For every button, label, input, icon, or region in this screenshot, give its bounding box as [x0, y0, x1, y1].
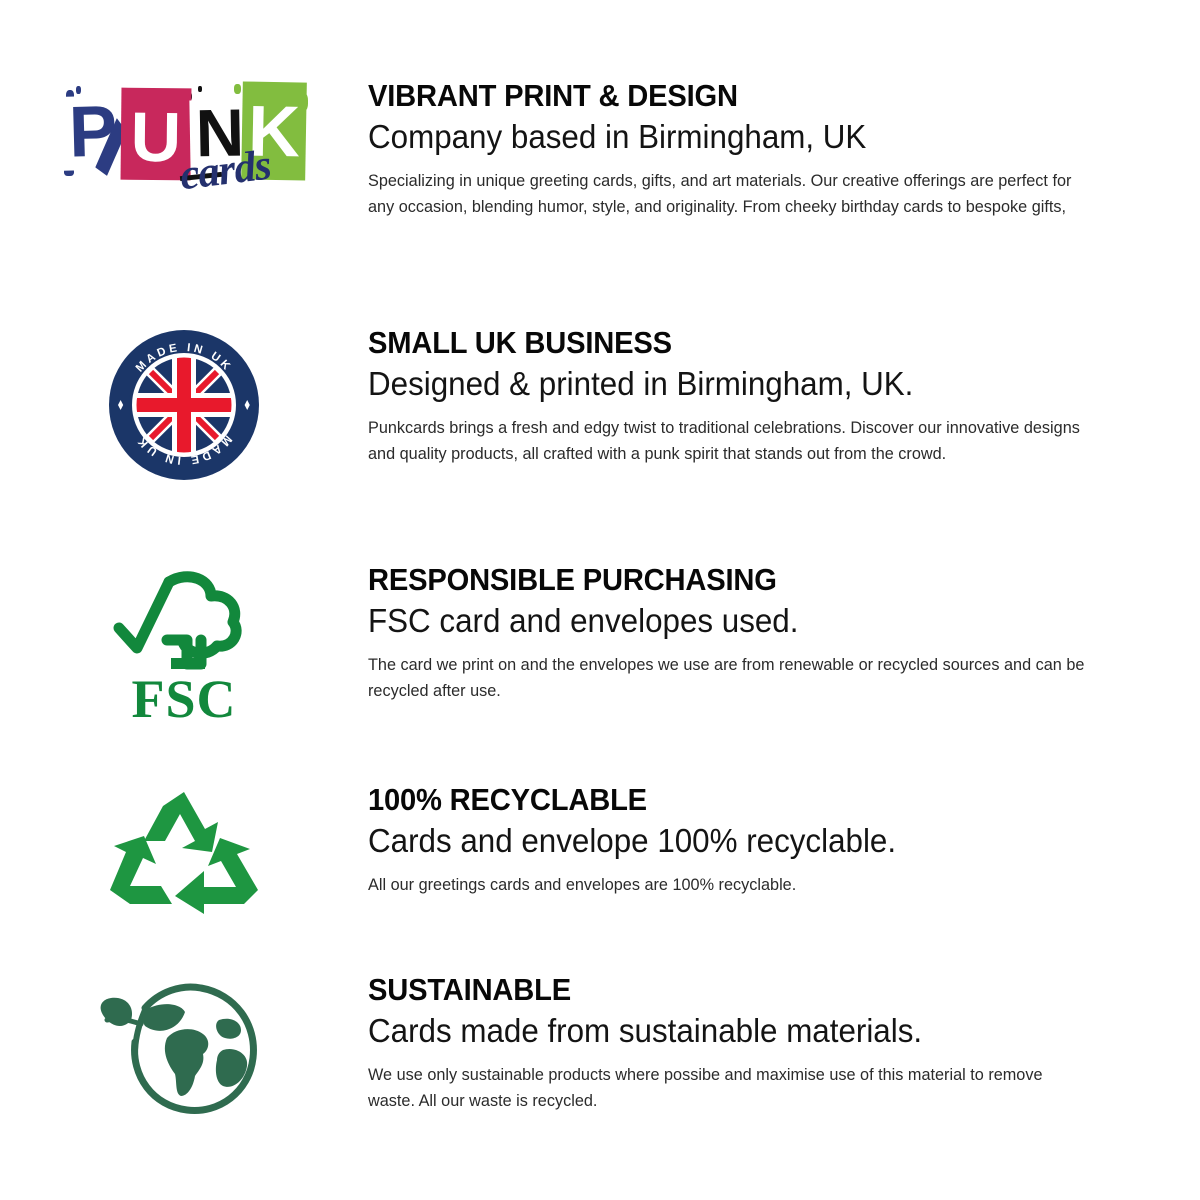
icon-cell-made-in-uk: MADE IN UK MADE IN UK — [0, 325, 368, 481]
text-cell-sustainable: SUSTAINABLE Cards made from sustainable … — [368, 972, 1200, 1114]
feature-body: All our greetings cards and envelopes ar… — [368, 872, 1087, 898]
feature-headline: SMALL UK BUSINESS — [368, 325, 1060, 361]
globe-leaf-icon — [89, 976, 279, 1116]
text-cell-vibrant-print-design: VIBRANT PRINT & DESIGN Company based in … — [368, 78, 1200, 220]
feature-row-responsible-purchasing: FSC RESPONSIBLE PURCHASING FSC card and … — [0, 562, 1200, 726]
made-in-uk-badge-icon: MADE IN UK MADE IN UK — [108, 329, 260, 481]
feature-subheadline: Cards and envelope 100% recyclable. — [368, 820, 1067, 862]
feature-row-small-uk-business: MADE IN UK MADE IN UK SMALL UK BUSINESS … — [0, 325, 1200, 481]
feature-body: The card we print on and the envelopes w… — [368, 652, 1087, 704]
feature-headline: 100% RECYCLABLE — [368, 782, 1060, 818]
feature-subheadline: Company based in Birmingham, UK — [368, 116, 1067, 158]
text-cell-100-percent-recyclable: 100% RECYCLABLE Cards and envelope 100% … — [368, 782, 1200, 898]
made-in-uk-badge-svg: MADE IN UK MADE IN UK — [108, 329, 260, 481]
punkcards-logo: P U N K cards — [62, 82, 307, 202]
globe-leaf-svg — [89, 976, 279, 1116]
icon-cell-punkcards: P U N K cards — [0, 78, 368, 202]
feature-headline: VIBRANT PRINT & DESIGN — [368, 78, 1060, 114]
feature-body: We use only sustainable products where p… — [368, 1062, 1087, 1114]
feature-row-100-percent-recyclable: 100% RECYCLABLE Cards and envelope 100% … — [0, 782, 1200, 914]
feature-headline: SUSTAINABLE — [368, 972, 1060, 1008]
feature-headline: RESPONSIBLE PURCHASING — [368, 562, 1060, 598]
icon-cell-globe — [0, 972, 368, 1116]
fsc-tree-icon: FSC — [111, 566, 257, 726]
text-cell-responsible-purchasing: RESPONSIBLE PURCHASING FSC card and enve… — [368, 562, 1200, 704]
logo-speck — [234, 84, 241, 94]
fsc-tree-svg — [111, 566, 257, 686]
feature-body: Punkcards brings a fresh and edgy twist … — [368, 415, 1087, 467]
icon-cell-fsc: FSC — [0, 562, 368, 726]
fsc-label: FSC — [111, 672, 257, 726]
feature-row-vibrant-print-design: P U N K cards VIBRANT PRINT & DESIGN Com… — [0, 78, 1200, 220]
logo-script-cards: cards — [177, 141, 273, 201]
text-cell-small-uk-business: SMALL UK BUSINESS Designed & printed in … — [368, 325, 1200, 467]
recycle-svg — [104, 786, 264, 914]
feature-subheadline: FSC card and envelopes used. — [368, 600, 1067, 642]
recycle-icon — [104, 786, 264, 914]
feature-body: Specializing in unique greeting cards, g… — [368, 168, 1087, 220]
feature-list-page: P U N K cards VIBRANT PRINT & DESIGN Com… — [0, 0, 1200, 1200]
feature-subheadline: Cards made from sustainable materials. — [368, 1010, 1067, 1052]
feature-subheadline: Designed & printed in Birmingham, UK. — [368, 363, 1067, 405]
icon-cell-recycle — [0, 782, 368, 914]
logo-speck — [198, 86, 202, 92]
feature-row-sustainable: SUSTAINABLE Cards made from sustainable … — [0, 972, 1200, 1116]
